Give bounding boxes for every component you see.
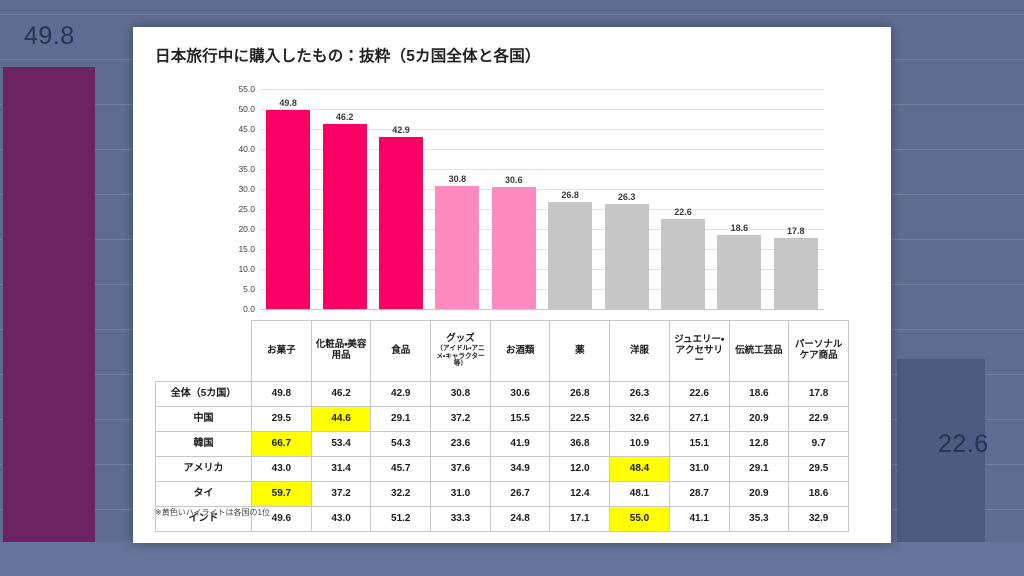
chart-bar-value-label: 49.8 (260, 98, 316, 108)
chart-y-tick-label: 40.0 (238, 144, 255, 154)
chart-bar (774, 238, 818, 309)
chart-bar-value-label: 30.8 (429, 174, 485, 184)
table-cell-highlighted: 55.0 (610, 507, 670, 532)
chart-bar-value-label: 22.6 (655, 207, 711, 217)
table-cell: 9.7 (789, 432, 849, 457)
table-column-header: お菓子 (252, 321, 312, 382)
table-column-header-sublabel: （アイドル・アニメ・キャラクター等） (432, 345, 489, 368)
chart-bar (323, 124, 367, 309)
chart-y-tick-label: 35.0 (238, 164, 255, 174)
table-cell-highlighted: 66.7 (252, 432, 312, 457)
chart-y-tick-label: 5.0 (243, 284, 255, 294)
chart-bar (605, 204, 649, 309)
table-cell: 22.6 (669, 382, 729, 407)
bar-chart: 0.05.010.015.020.025.030.035.040.045.050… (224, 79, 824, 327)
table-head: お菓子化粧品・美容用品食品グッズ（アイドル・アニメ・キャラクター等）お酒類薬洋服… (156, 321, 849, 382)
chart-bar-slot: 26.3 (598, 89, 654, 309)
table-cell: 29.5 (252, 407, 312, 432)
chart-plot-area: 0.05.010.015.020.025.030.035.040.045.050… (260, 89, 824, 309)
table-cell: 48.1 (610, 482, 670, 507)
chart-bar-value-label: 46.2 (316, 112, 372, 122)
table-column-header-label: 食品 (391, 345, 410, 356)
table-cell: 45.7 (371, 457, 431, 482)
table-row: 全体（5カ国）49.846.242.930.830.626.826.322.61… (156, 382, 849, 407)
chart-y-tick-label: 45.0 (238, 124, 255, 134)
table-column-header: お酒類 (490, 321, 550, 382)
chart-bar-slot: 49.8 (260, 89, 316, 309)
chart-bar-slot: 22.6 (655, 89, 711, 309)
table-cell: 29.1 (729, 457, 789, 482)
chart-bar (548, 202, 592, 309)
chart-bar-slot: 18.6 (711, 89, 767, 309)
table-cell: 32.6 (610, 407, 670, 432)
table-row-label: 中国 (156, 407, 252, 432)
chart-bar-value-label: 18.6 (711, 223, 767, 233)
table-column-header-label: 伝統工芸品 (735, 345, 783, 356)
table-row-label: 韓国 (156, 432, 252, 457)
table-cell: 27.1 (669, 407, 729, 432)
table-cell: 17.1 (550, 507, 610, 532)
table-row: アメリカ43.031.445.737.634.912.048.431.029.1… (156, 457, 849, 482)
table-cell-highlighted: 48.4 (610, 457, 670, 482)
table-cell: 34.9 (490, 457, 550, 482)
table-cell: 37.2 (311, 482, 371, 507)
table-cell: 29.5 (789, 457, 849, 482)
page-title: 日本旅行中に購入したもの：抜粋（5カ国全体と各国） (155, 44, 541, 66)
table-column-header-label: グッズ (446, 333, 475, 344)
table-cell: 12.4 (550, 482, 610, 507)
chart-bar (266, 110, 310, 309)
table-column-header: 食品 (371, 321, 431, 382)
chart-y-tick-label: 10.0 (238, 264, 255, 274)
table-cell-highlighted: 59.7 (252, 482, 312, 507)
chart-bar-value-label: 30.6 (486, 175, 542, 185)
background-bar (3, 67, 95, 542)
table-cell: 20.9 (729, 482, 789, 507)
background-value-label-left: 49.8 (24, 22, 75, 51)
table-column-header-label: 洋服 (630, 345, 649, 356)
chart-y-tick-label: 50.0 (238, 104, 255, 114)
table-column-header-label: ジュエリー・アクセサリー (674, 334, 724, 366)
table-column-header: グッズ（アイドル・アニメ・キャラクター等） (431, 321, 491, 382)
table-cell: 46.2 (311, 382, 371, 407)
chart-bar-slot: 42.9 (373, 89, 429, 309)
table-cell: 30.6 (490, 382, 550, 407)
table-cell: 35.3 (729, 507, 789, 532)
table-corner-cell (156, 321, 252, 382)
table-cell: 26.7 (490, 482, 550, 507)
table-column-header: 薬 (550, 321, 610, 382)
table-cell: 26.3 (610, 382, 670, 407)
table-column-header: パーソナルケア商品 (789, 321, 849, 382)
table-cell: 31.0 (431, 482, 491, 507)
table-cell: 33.3 (431, 507, 491, 532)
table-cell: 15.1 (669, 432, 729, 457)
table-cell: 43.0 (311, 507, 371, 532)
chart-y-tick-label: 55.0 (238, 84, 255, 94)
table-cell: 32.9 (789, 507, 849, 532)
table-row: 中国29.544.629.137.215.522.532.627.120.922… (156, 407, 849, 432)
table-cell: 31.4 (311, 457, 371, 482)
table-cell: 54.3 (371, 432, 431, 457)
chart-bar-slot: 26.8 (542, 89, 598, 309)
table-cell: 18.6 (729, 382, 789, 407)
table-column-header: ジュエリー・アクセサリー (669, 321, 729, 382)
chart-bar-value-label: 26.3 (598, 192, 654, 202)
table-row-label: アメリカ (156, 457, 252, 482)
chart-bar-slot: 46.2 (316, 89, 372, 309)
background-floor (0, 542, 1024, 576)
table-cell: 37.6 (431, 457, 491, 482)
table-column-header: 伝統工芸品 (729, 321, 789, 382)
chart-bar (717, 235, 761, 309)
chart-bar-value-label: 26.8 (542, 190, 598, 200)
chart-bar-value-label: 17.8 (768, 226, 824, 236)
table-column-header: 化粧品・美容用品 (311, 321, 371, 382)
table-row: 韓国66.753.454.323.641.936.810.915.112.89.… (156, 432, 849, 457)
chart-y-tick-label: 20.0 (238, 224, 255, 234)
chart-bar-slot: 30.6 (486, 89, 542, 309)
table-cell: 26.8 (550, 382, 610, 407)
table-cell: 43.0 (252, 457, 312, 482)
table-cell: 37.2 (431, 407, 491, 432)
table-cell: 32.2 (371, 482, 431, 507)
table-column-header-label: 化粧品・美容用品 (316, 339, 367, 361)
table-cell: 31.0 (669, 457, 729, 482)
chart-bar (379, 137, 423, 309)
table-row: タイ59.737.232.231.026.712.448.128.720.918… (156, 482, 849, 507)
table-cell: 30.8 (431, 382, 491, 407)
chart-bar-value-label: 42.9 (373, 125, 429, 135)
table-cell: 41.9 (490, 432, 550, 457)
table-cell: 20.9 (729, 407, 789, 432)
table-cell: 24.8 (490, 507, 550, 532)
table-column-header-label: パーソナルケア商品 (795, 339, 843, 361)
chart-y-tick-label: 15.0 (238, 244, 255, 254)
table-row-label: 全体（5カ国） (156, 382, 252, 407)
table-cell-highlighted: 44.6 (311, 407, 371, 432)
background-value-label-right: 22.6 (938, 430, 989, 459)
table-cell: 23.6 (431, 432, 491, 457)
table-cell: 49.8 (252, 382, 312, 407)
table-cell: 10.9 (610, 432, 670, 457)
chart-y-tick-label: 30.0 (238, 184, 255, 194)
data-table: お菓子化粧品・美容用品食品グッズ（アイドル・アニメ・キャラクター等）お酒類薬洋服… (155, 320, 849, 532)
chart-bar (492, 187, 536, 309)
chart-y-tick-label: 0.0 (243, 304, 255, 314)
table-cell: 18.6 (789, 482, 849, 507)
table-cell: 41.1 (669, 507, 729, 532)
table-header-row: お菓子化粧品・美容用品食品グッズ（アイドル・アニメ・キャラクター等）お酒類薬洋服… (156, 321, 849, 382)
table-cell: 28.7 (669, 482, 729, 507)
table-cell: 12.0 (550, 457, 610, 482)
chart-bar (661, 219, 705, 309)
table-column-header: 洋服 (610, 321, 670, 382)
chart-gridline (260, 309, 824, 310)
table-cell: 17.8 (789, 382, 849, 407)
table-cell: 51.2 (371, 507, 431, 532)
table-cell: 42.9 (371, 382, 431, 407)
table-cell: 36.8 (550, 432, 610, 457)
table-cell: 15.5 (490, 407, 550, 432)
table-column-header-label: 薬 (575, 345, 585, 356)
table-cell: 22.5 (550, 407, 610, 432)
chart-bar-slot: 17.8 (768, 89, 824, 309)
table-cell: 29.1 (371, 407, 431, 432)
chart-bar-slot: 30.8 (429, 89, 485, 309)
table-column-header-label: お菓子 (267, 345, 296, 356)
table-cell: 22.9 (789, 407, 849, 432)
background-gridline (0, 14, 1024, 15)
data-table-wrapper: お菓子化粧品・美容用品食品グッズ（アイドル・アニメ・キャラクター等）お酒類薬洋服… (155, 320, 849, 532)
table-row-label: タイ (156, 482, 252, 507)
table-cell: 53.4 (311, 432, 371, 457)
chart-y-tick-label: 25.0 (238, 204, 255, 214)
slide-panel: 日本旅行中に購入したもの：抜粋（5カ国全体と各国） 0.05.010.015.0… (133, 27, 891, 543)
table-column-header-label: お酒類 (506, 345, 535, 356)
footnote: ※黄色いハイライトは各国の1位 (155, 507, 270, 518)
table-cell: 12.8 (729, 432, 789, 457)
chart-bar (435, 186, 479, 309)
